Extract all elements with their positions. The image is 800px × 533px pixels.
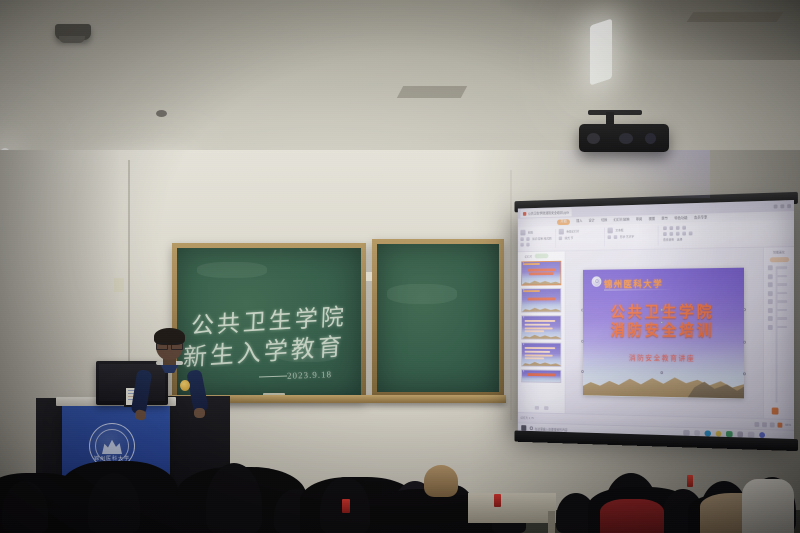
find-replace-label: 查找替换 <box>663 238 674 242</box>
selection-handle[interactable] <box>581 370 584 373</box>
menu-item-insert[interactable]: 插入 <box>576 219 582 224</box>
wps-presentation-app: 公共卫生学院消防安全培训.pptx 开始 插入 设计 切换 幻灯片放映 审阅 <box>518 200 794 441</box>
chalk-dash <box>259 376 287 378</box>
slides-tab-label[interactable]: 幻灯片 <box>525 254 533 258</box>
blackboard-surface: 公共卫生学院 新生入学教育 2023.9.18 <box>177 248 361 396</box>
presenter-badge <box>180 380 190 391</box>
search-icon <box>530 426 533 430</box>
classroom-photo: 公共卫生学院 新生入学教育 2023.9.18 公共卫生学院消防安全培训.ppt… <box>0 0 800 533</box>
selection-handle[interactable] <box>743 341 746 344</box>
thumb-number: 3 <box>523 316 524 319</box>
projector-lens-icon <box>587 133 600 144</box>
selection-handle[interactable] <box>660 371 663 374</box>
ceiling-vignette <box>0 0 800 175</box>
undo-icon[interactable] <box>526 243 529 247</box>
sorter-view-icon[interactable] <box>762 422 767 427</box>
slide-thumbnail-5[interactable]: 5 <box>521 369 561 383</box>
ceiling <box>0 0 800 175</box>
fluorescent-panel-right <box>590 18 612 85</box>
line-spacing-icon[interactable] <box>689 231 693 235</box>
normal-view-icon[interactable] <box>754 421 759 426</box>
status-bar-controls[interactable]: 66% <box>754 421 794 427</box>
image-icon <box>768 265 773 270</box>
italic-icon[interactable] <box>669 226 673 230</box>
reading-view-icon[interactable] <box>770 422 775 427</box>
right-panel-scrollbar[interactable] <box>776 269 777 402</box>
desk-leg <box>548 511 555 533</box>
align-center-icon[interactable] <box>669 232 673 236</box>
outline-tab[interactable] <box>535 254 549 259</box>
chart-icon <box>768 282 773 287</box>
panel-item-shape[interactable] <box>768 274 794 279</box>
thumb-mountain <box>522 279 560 285</box>
beautify-button[interactable] <box>769 257 788 262</box>
panel-item-audio[interactable] <box>768 299 794 304</box>
panel-item-image[interactable] <box>768 265 794 270</box>
slide-counter: 幻灯片 1 / 5 <box>520 416 533 420</box>
slide-title-line-2: 消防安全培训 <box>583 321 744 340</box>
selection-handle[interactable] <box>743 308 746 311</box>
zoom-level[interactable]: 66% <box>785 423 791 427</box>
chalk-signature-date: 2023.9.18 <box>287 369 332 381</box>
pptx-file-icon <box>523 212 526 216</box>
selection-handle[interactable] <box>660 308 663 311</box>
menu-item-member[interactable]: 会员专享 <box>694 215 707 220</box>
slide-title-line-1: 公共卫生学院 <box>583 303 744 322</box>
close-icon[interactable] <box>787 204 791 208</box>
paste-label: 粘贴 <box>528 230 533 234</box>
smoke-detector-icon <box>156 110 167 117</box>
menu-item-section[interactable]: 章节 <box>661 216 668 221</box>
panel-header: 幻灯片 <box>520 253 563 258</box>
template-icon <box>768 324 773 329</box>
align-left-icon[interactable] <box>663 232 667 236</box>
slide-thumbnail-3[interactable]: 3 <box>521 315 561 339</box>
thumb-header-bar <box>523 290 540 292</box>
projection-screen[interactable]: 公共卫生学院消防安全培训.pptx 开始 插入 设计 切换 幻灯片放映 审阅 <box>518 200 794 441</box>
thumbnail-list[interactable]: 1 2 3 <box>520 261 563 383</box>
bold-icon[interactable] <box>663 226 667 230</box>
textbox-icon[interactable] <box>608 228 613 234</box>
slideshow-icon[interactable] <box>777 422 782 427</box>
slide-header-rule <box>604 289 674 291</box>
panel-footer-controls[interactable] <box>518 406 565 411</box>
notes-toggle-icon[interactable] <box>534 406 538 410</box>
slide-thumbnail-panel[interactable]: 幻灯片 1 2 <box>518 251 566 413</box>
paste-icon[interactable] <box>520 230 525 236</box>
format-painter-icon[interactable] <box>520 243 523 247</box>
panel-item-chart[interactable] <box>768 282 794 287</box>
slide-canvas[interactable]: 锦州医科大学 公共卫生学院 消防安全培训 消防安全教育讲座 <box>566 248 763 419</box>
slide-title[interactable]: 公共卫生学院 消防安全培训 <box>583 303 744 341</box>
menu-item-features[interactable]: 特色功能 <box>674 216 687 221</box>
video-icon <box>768 308 773 313</box>
comment-toggle-icon[interactable] <box>544 406 548 410</box>
numbering-icon[interactable] <box>682 232 686 236</box>
thumb-bullets <box>525 320 558 334</box>
panel-item-template[interactable] <box>768 324 794 329</box>
table-icon <box>768 291 773 296</box>
panel-item-table[interactable] <box>768 291 794 296</box>
slide-thumbnail-2[interactable]: 2 <box>521 288 561 313</box>
projector-arm <box>588 110 642 115</box>
wordart-icon[interactable] <box>614 235 618 239</box>
thumb-header-bar <box>523 263 540 265</box>
thumb-bullets <box>525 347 558 361</box>
right-tools-panel[interactable]: 智能美化 <box>763 247 794 419</box>
shape-icon[interactable] <box>608 235 612 239</box>
presenter-glasses <box>156 343 183 348</box>
layout-label: 版式 节 <box>565 236 574 240</box>
selection-handle[interactable] <box>581 308 584 311</box>
slide-subtitle[interactable]: 消防安全教育讲座 <box>583 352 744 364</box>
selection-handle[interactable] <box>660 321 663 324</box>
maximize-icon[interactable] <box>780 204 784 208</box>
ceiling-projector <box>579 124 669 152</box>
font-color-icon[interactable] <box>682 226 686 230</box>
underline-icon[interactable] <box>676 226 680 230</box>
window-controls[interactable] <box>774 204 794 209</box>
university-emblem: 锦州医科大学 <box>89 423 135 469</box>
university-logo-icon <box>592 276 602 287</box>
projector-sensor-icon <box>645 133 656 144</box>
menu-item-design[interactable]: 设计 <box>589 218 595 223</box>
panel-item-material[interactable] <box>768 316 794 321</box>
menu-item-review[interactable]: 审阅 <box>636 217 642 222</box>
material-icon <box>768 316 773 321</box>
new-slide-label: 新建幻灯片 <box>566 229 579 233</box>
cut-icon[interactable] <box>520 237 523 241</box>
audio-icon <box>768 299 773 304</box>
thumb-title-line <box>527 373 555 376</box>
thumb-title-line <box>529 272 554 275</box>
thumb-mountain <box>522 333 560 339</box>
right-panel-title: 智能美化 <box>764 250 794 255</box>
thumb-title-line <box>527 298 555 301</box>
thumb-title-line <box>527 268 555 271</box>
slide-thumbnail-4[interactable]: 4 <box>521 342 561 367</box>
right-panel-items[interactable] <box>764 265 794 330</box>
ceiling-speaker <box>55 24 91 40</box>
shape-icon <box>768 274 773 279</box>
thumb-number: 5 <box>523 370 524 373</box>
projector-vent-icon <box>619 133 633 144</box>
lectern: 锦州医科大学 <box>62 404 170 500</box>
menu-item-transition[interactable]: 切换 <box>601 218 607 223</box>
current-slide[interactable]: 锦州医科大学 公共卫生学院 消防安全培训 消防安全教育讲座 <box>583 267 744 398</box>
menu-item-view[interactable]: 视图 <box>649 217 656 222</box>
copy-icon[interactable] <box>526 237 529 241</box>
textbox-label: 文本框 <box>615 228 623 232</box>
minimize-icon[interactable] <box>774 204 778 208</box>
chalk-smudge <box>387 284 457 304</box>
clipboard-sub: 剪切 复制 格式刷 <box>532 237 551 241</box>
slide-thumbnail-1[interactable]: 1 <box>521 261 561 286</box>
menu-item-slideshow[interactable]: 幻灯片放映 <box>613 218 629 223</box>
blackboard-writing: 公共卫生学院 新生入学教育 2023.9.18 <box>177 248 361 396</box>
select-label: 选择 <box>677 237 683 241</box>
selection-handle[interactable] <box>581 340 584 343</box>
thumb-mountain <box>522 306 560 312</box>
document-tab-label: 公共卫生学院消防安全培训.pptx <box>528 210 569 216</box>
blackboard-hook <box>366 272 372 281</box>
bullets-icon[interactable] <box>676 232 680 236</box>
ai-assistant-button[interactable] <box>772 407 779 414</box>
screen-surface: 公共卫生学院消防安全培训.pptx 开始 插入 设计 切换 幻灯片放映 审阅 <box>518 200 794 441</box>
emblem-label: 锦州医科大学 <box>90 455 134 462</box>
thumb-number: 4 <box>523 343 524 346</box>
new-slide-icon[interactable] <box>559 229 564 235</box>
shapes-label: 形状 艺术字 <box>620 235 634 239</box>
selection-handle[interactable] <box>743 372 746 375</box>
layout-icon[interactable] <box>559 236 562 240</box>
menu-item-active[interactable]: 开始 <box>557 219 570 225</box>
panel-item-video[interactable] <box>768 308 794 313</box>
presenter-right-hand <box>194 408 205 418</box>
document-tab[interactable]: 公共卫生学院消防安全培训.pptx <box>520 208 571 218</box>
